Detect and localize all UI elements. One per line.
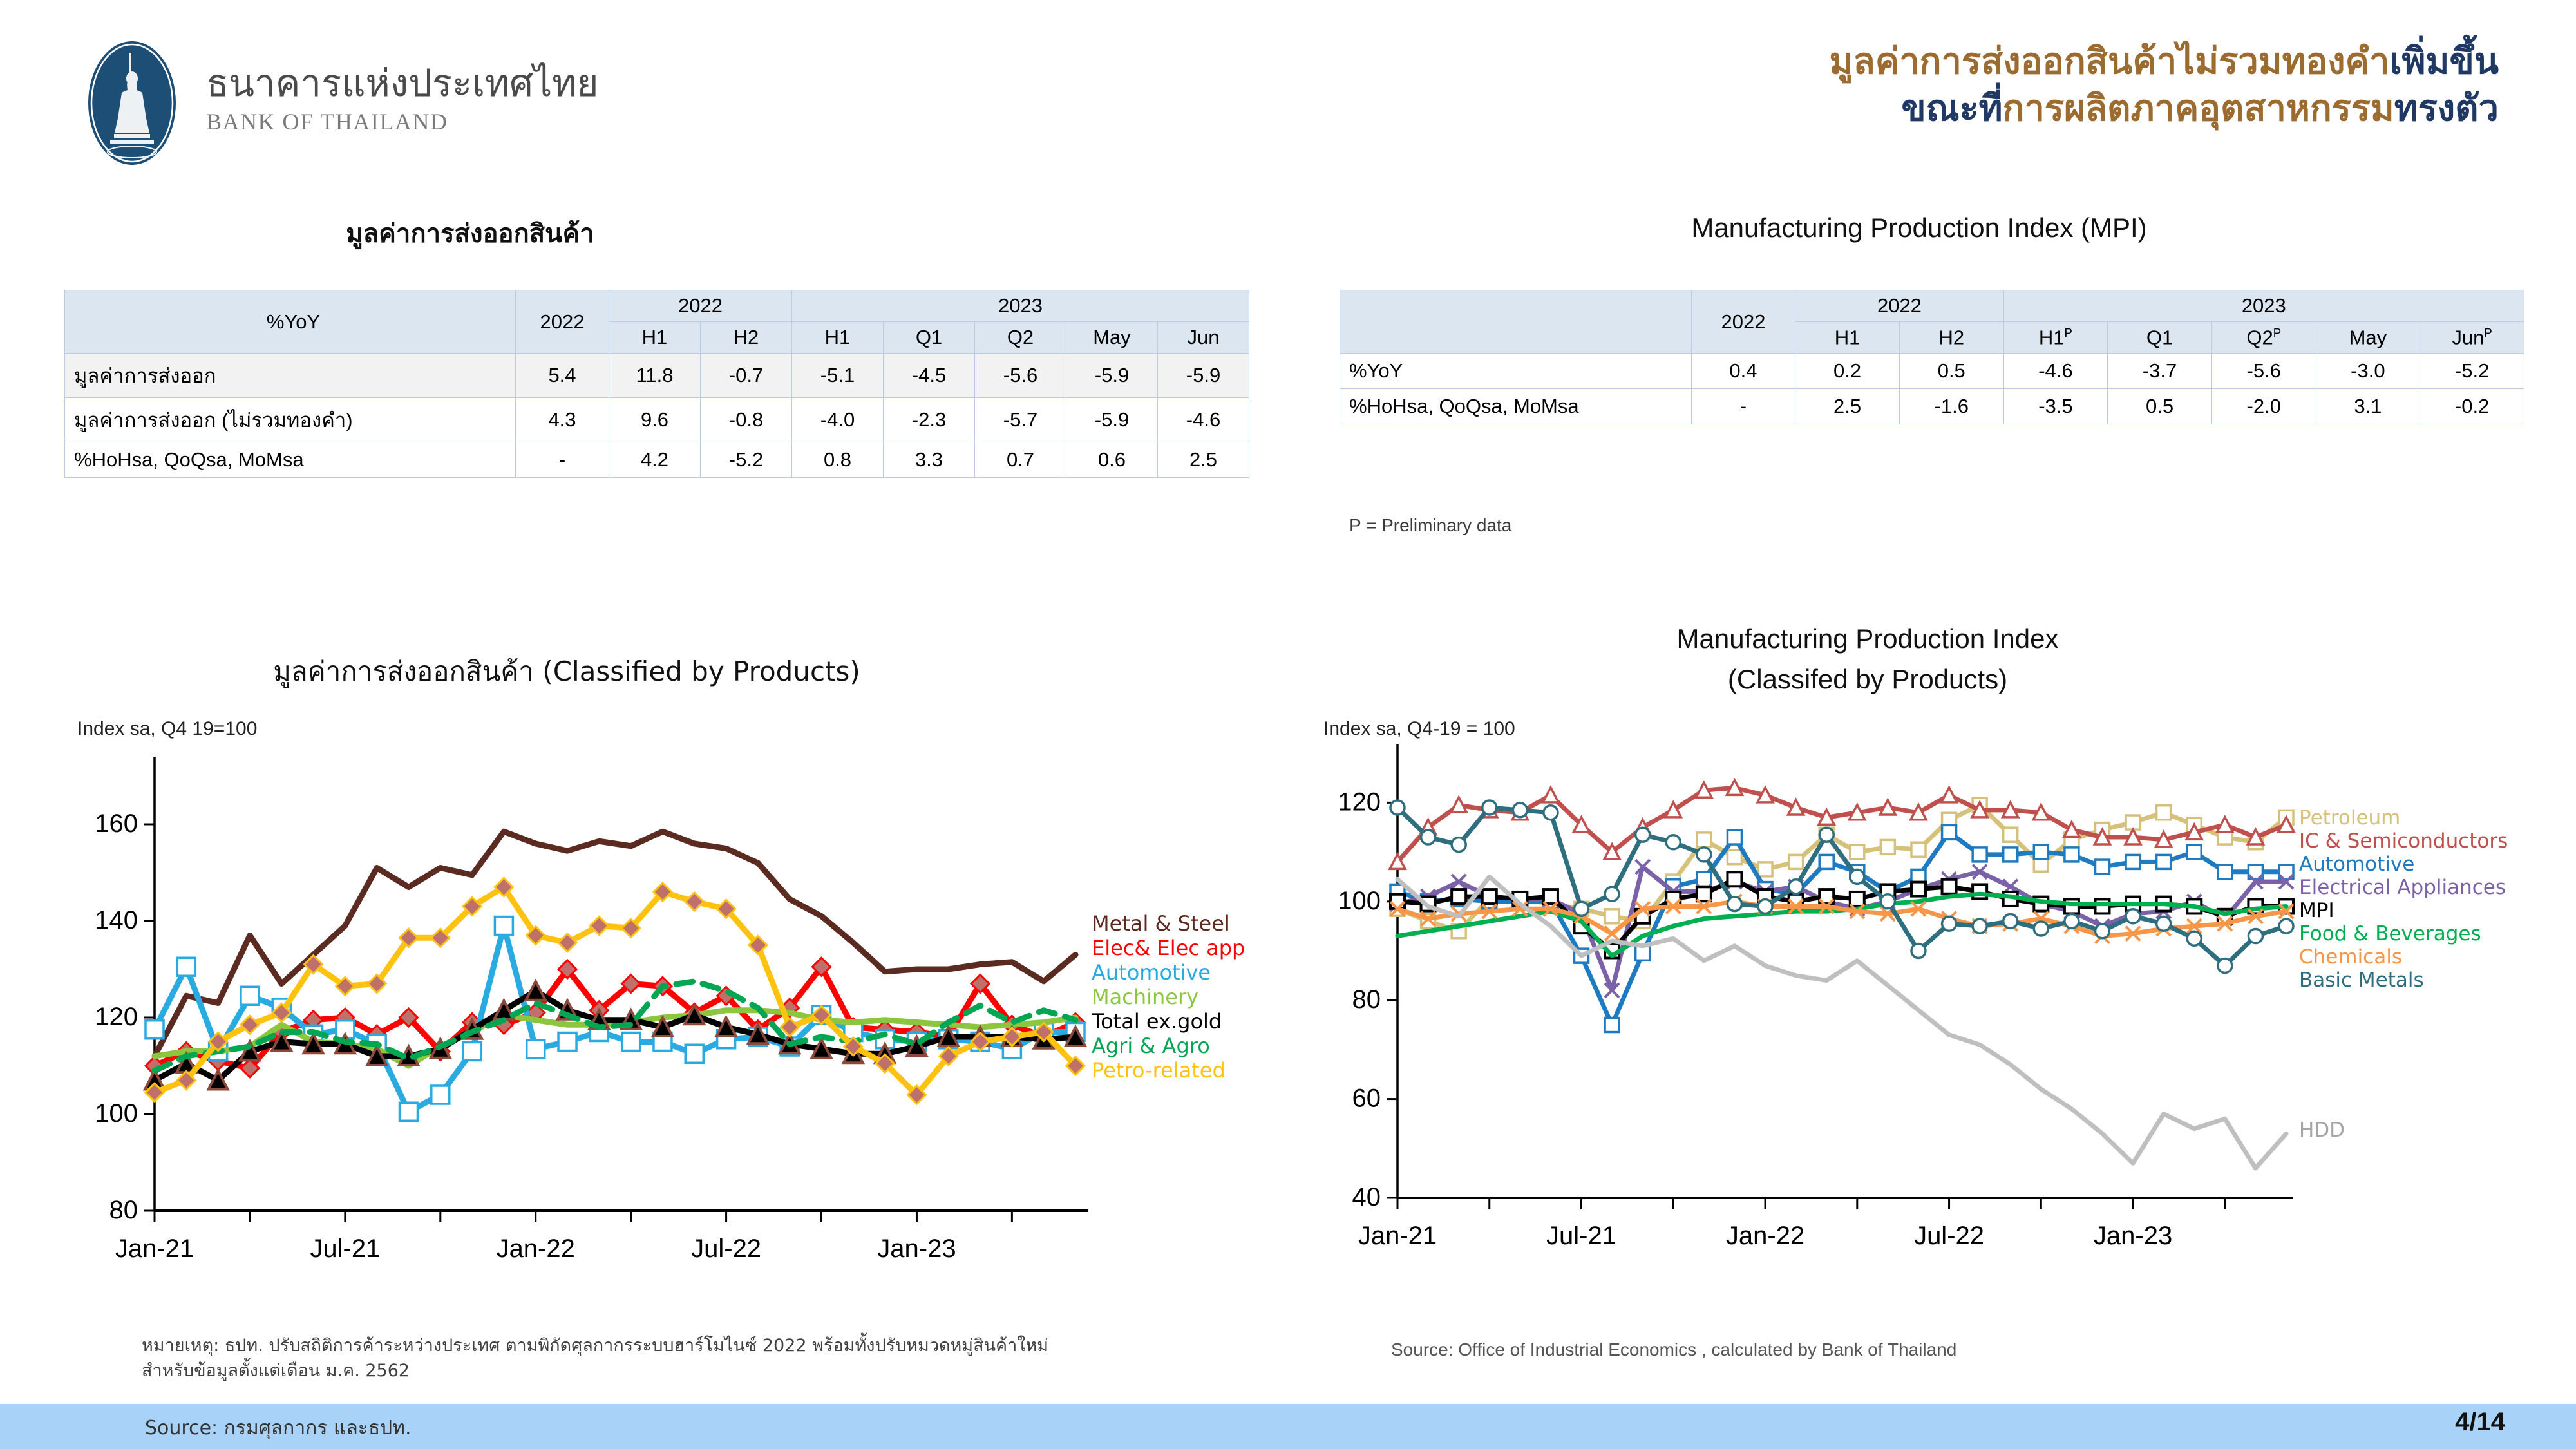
- headline-2-brown: การผลิตภาคอุตสาหกรรม: [2003, 88, 2394, 129]
- mpi-table: 2022 2022 2023 H1 H2 H1P Q1 Q2P May JunP…: [1340, 290, 2524, 424]
- cell: -0.7: [701, 354, 792, 398]
- table-row: %HoHsa, QoQsa, MoMsa - 4.2 -5.2 0.8 3.3 …: [65, 442, 1249, 478]
- cell: 5.4: [516, 354, 609, 398]
- row-label: %HoHsa, QoQsa, MoMsa: [65, 442, 516, 478]
- row-label: มูลค่าการส่งออก (ไม่รวมทองคำ): [65, 398, 516, 442]
- legend-item-metal-steel[interactable]: Metal & Steel: [1092, 911, 1230, 936]
- headline-2-navy-a: ขณะที่: [1901, 88, 2002, 129]
- x-tick-label: Jan-22: [497, 1235, 575, 1263]
- cell: 0.5: [1899, 354, 2003, 389]
- left-footnote-line2: สำหรับข้อมูลตั้งแต่เดือน ม.ค. 2562: [142, 1358, 1275, 1383]
- legend-item-food-beverages[interactable]: Food & Beverages: [2299, 922, 2481, 945]
- export-products-chart: 80100120140160Jan-21Jul-21Jan-22Jul-22Ja…: [64, 741, 1288, 1307]
- y-tick-label: 160: [95, 810, 138, 838]
- legend-item-automotive[interactable]: Automotive: [1092, 960, 1211, 985]
- row-label: %YoY: [1340, 354, 1692, 389]
- legend-item-automotive[interactable]: Automotive: [2299, 853, 2414, 876]
- y-tick-label: 100: [95, 1099, 138, 1128]
- header-sub-5: May: [1066, 322, 1158, 354]
- x-tick-label: Jan-23: [877, 1235, 956, 1263]
- cell: -5.9: [1066, 354, 1158, 398]
- left-chart-title: มูลค่าการส่งออกสินค้า (Classified by Pro…: [116, 650, 1018, 693]
- row-label: มูลค่าการส่งออก: [65, 354, 516, 398]
- left-section-title: มูลค่าการส่งออกสินค้า: [116, 213, 824, 254]
- headline-1-navy: เพิ่มขึ้น: [2389, 41, 2499, 82]
- x-tick-label: Jul-22: [691, 1235, 761, 1263]
- brand-name-th: ธนาคารแห่งประเทศไทย: [206, 53, 598, 113]
- header-sub-2: H1: [792, 322, 884, 354]
- table-row: %YoY 0.4 0.2 0.5 -4.6 -3.7 -5.6 -3.0 -5.…: [1340, 354, 2524, 389]
- legend-item-electrical-appliances[interactable]: Electrical Appliances: [2299, 876, 2506, 899]
- cell: 0.6: [1066, 442, 1158, 478]
- header-sub-2: H1P: [2003, 322, 2108, 354]
- footer-bar: Source: กรมศุลกากร และธปท. 4/14: [0, 1404, 2576, 1449]
- cell: -5.9: [1158, 354, 1249, 398]
- cell: -3.7: [2108, 354, 2212, 389]
- header-group-2023: 2023: [2003, 290, 2524, 322]
- y-tick-label: 140: [95, 906, 138, 934]
- x-tick-label: Jul-21: [310, 1235, 380, 1263]
- table-header-row-1: %YoY 2022 2022 2023: [65, 290, 1249, 322]
- cell: -5.2: [701, 442, 792, 478]
- table-header-row-1: 2022 2022 2023: [1340, 290, 2524, 322]
- cell: -3.0: [2316, 354, 2420, 389]
- mpi-products-chart: 406080100120Jan-21Jul-21Jan-22Jul-22Jan-…: [1307, 741, 2563, 1307]
- cell: -1.6: [1899, 389, 2003, 424]
- export-table: %YoY 2022 2022 2023 H1 H2 H1 Q1 Q2 May J…: [64, 290, 1249, 478]
- left-axis-note: Index sa, Q4 19=100: [77, 718, 257, 740]
- headline-2-navy-b: ทรงตัว: [2394, 88, 2499, 129]
- header-group-2022: 2022: [609, 290, 792, 322]
- header-sub-3: Q1: [2108, 322, 2212, 354]
- header-sub-5: May: [2316, 322, 2420, 354]
- cell: 2.5: [1795, 389, 1900, 424]
- legend-item-total-ex-gold[interactable]: Total ex.gold: [1091, 1009, 1222, 1034]
- page-headline: มูลค่าการส่งออกสินค้าไม่รวมทองคำเพิ่มขึ้…: [1275, 39, 2499, 133]
- bot-seal-logo-icon: [68, 39, 196, 167]
- cell: 0.7: [975, 442, 1066, 478]
- brand-logo: ธนาคารแห่งประเทศไทย BANK OF THAILAND: [68, 39, 647, 167]
- x-tick-label: Jan-23: [2094, 1222, 2172, 1250]
- header-year-2022: 2022: [516, 290, 609, 354]
- cell: 3.3: [884, 442, 975, 478]
- right-chart-title-line2: (Classifed by Products): [1481, 659, 2254, 699]
- legend-item-petro-related[interactable]: Petro-related: [1092, 1058, 1226, 1083]
- legend-item-ic-semiconductors[interactable]: IC & Semiconductors: [2299, 829, 2508, 853]
- left-footnote: หมายเหตุ: ธปท. ปรับสถิติการค้าระหว่างประ…: [142, 1333, 1275, 1383]
- cell: 11.8: [609, 354, 701, 398]
- cell: 4.2: [609, 442, 701, 478]
- headline-line-2: ขณะที่การผลิตภาคอุตสาหกรรมทรงตัว: [1275, 86, 2499, 133]
- cell: -4.0: [792, 398, 884, 442]
- header-year-2022: 2022: [1691, 290, 1795, 354]
- brand-name-en: BANK OF THAILAND: [206, 108, 448, 135]
- cell: -2.0: [2211, 389, 2316, 424]
- header-sub-6: Jun: [1158, 322, 1249, 354]
- header-corner: [1340, 290, 1692, 354]
- cell: 3.1: [2316, 389, 2420, 424]
- legend-item-hdd[interactable]: HDD: [2299, 1119, 2345, 1142]
- y-tick-label: 120: [95, 1003, 138, 1031]
- legend-item-elec-elec-app[interactable]: Elec& Elec app: [1092, 936, 1245, 960]
- right-axis-note: Index sa, Q4-19 = 100: [1323, 718, 1515, 740]
- footer-source: Source: กรมศุลกากร และธปท.: [145, 1413, 411, 1443]
- cell: -5.6: [2211, 354, 2316, 389]
- cell: 0.5: [2108, 389, 2212, 424]
- legend-item-chemicals[interactable]: Chemicals: [2299, 945, 2402, 969]
- legend-item-basic-metals[interactable]: Basic Metals: [2299, 969, 2424, 992]
- cell: -4.6: [1158, 398, 1249, 442]
- cell: -5.1: [792, 354, 884, 398]
- page-number: 4/14: [2455, 1408, 2505, 1437]
- series-petro-related: [146, 878, 1084, 1104]
- right-section-title: Manufacturing Production Index (MPI): [1372, 213, 2467, 243]
- legend-item-mpi[interactable]: MPI: [2299, 899, 2334, 922]
- right-chart-title-line1: Manufacturing Production Index: [1481, 618, 2254, 659]
- right-footnote: Source: Office of Industrial Economics ,…: [1391, 1340, 1956, 1360]
- mpi-preliminary-note: P = Preliminary data: [1349, 515, 1511, 536]
- y-tick-label: 100: [1338, 887, 1381, 915]
- row-label: %HoHsa, QoQsa, MoMsa: [1340, 389, 1692, 424]
- header-sub-3: Q1: [884, 322, 975, 354]
- y-tick-label: 120: [1338, 788, 1381, 816]
- x-tick-label: Jan-21: [1358, 1222, 1437, 1250]
- table-row: มูลค่าการส่งออก (ไม่รวมทองคำ) 4.3 9.6 -0…: [65, 398, 1249, 442]
- cell: -4.6: [2003, 354, 2108, 389]
- header-sub-4: Q2: [975, 322, 1066, 354]
- cell: -: [516, 442, 609, 478]
- header-sub-6: JunP: [2420, 322, 2524, 354]
- cell: -3.5: [2003, 389, 2108, 424]
- header-sub-4: Q2P: [2211, 322, 2316, 354]
- header-sub-0: H1: [609, 322, 701, 354]
- x-tick-label: Jul-22: [1914, 1222, 1984, 1250]
- x-tick-label: Jul-21: [1546, 1222, 1616, 1250]
- cell: 4.3: [516, 398, 609, 442]
- cell: 9.6: [609, 398, 701, 442]
- table-row: มูลค่าการส่งออก 5.4 11.8 -0.7 -5.1 -4.5 …: [65, 354, 1249, 398]
- cell: 0.4: [1691, 354, 1795, 389]
- header-group-2023: 2023: [792, 290, 1249, 322]
- left-footnote-line1: หมายเหตุ: ธปท. ปรับสถิติการค้าระหว่างประ…: [142, 1333, 1275, 1358]
- legend-item-agri-agro[interactable]: Agri & Agro: [1092, 1034, 1210, 1058]
- x-tick-label: Jan-22: [1726, 1222, 1804, 1250]
- y-tick-label: 40: [1352, 1183, 1381, 1211]
- cell: -5.2: [2420, 354, 2524, 389]
- cell: -5.6: [975, 354, 1066, 398]
- y-tick-label: 80: [109, 1196, 138, 1224]
- cell: -0.2: [2420, 389, 2524, 424]
- header-yoy: %YoY: [65, 290, 516, 354]
- headline-line-1: มูลค่าการส่งออกสินค้าไม่รวมทองคำเพิ่มขึ้…: [1275, 39, 2499, 86]
- legend-item-machinery[interactable]: Machinery: [1092, 985, 1198, 1009]
- cell: -0.8: [701, 398, 792, 442]
- series-basic-metals: [1390, 800, 2293, 972]
- header-sub-1: H2: [1899, 322, 2003, 354]
- y-tick-label: 80: [1352, 985, 1381, 1014]
- right-chart-title: Manufacturing Production Index (Classife…: [1481, 618, 2254, 699]
- cell: -5.7: [975, 398, 1066, 442]
- cell: -5.9: [1066, 398, 1158, 442]
- cell: -4.5: [884, 354, 975, 398]
- header-group-2022: 2022: [1795, 290, 2003, 322]
- legend-item-petroleum[interactable]: Petroleum: [2299, 806, 2400, 829]
- table-row: %HoHsa, QoQsa, MoMsa - 2.5 -1.6 -3.5 0.5…: [1340, 389, 2524, 424]
- cell: 2.5: [1158, 442, 1249, 478]
- x-tick-label: Jan-21: [115, 1235, 194, 1263]
- y-tick-label: 60: [1352, 1084, 1381, 1113]
- headline-1-brown: มูลค่าการส่งออกสินค้าไม่รวมทองคำ: [1830, 41, 2390, 82]
- cell: 0.2: [1795, 354, 1900, 389]
- header-sub-1: H2: [701, 322, 792, 354]
- cell: -: [1691, 389, 1795, 424]
- cell: 0.8: [792, 442, 884, 478]
- header-sub-0: H1: [1795, 322, 1900, 354]
- cell: -2.3: [884, 398, 975, 442]
